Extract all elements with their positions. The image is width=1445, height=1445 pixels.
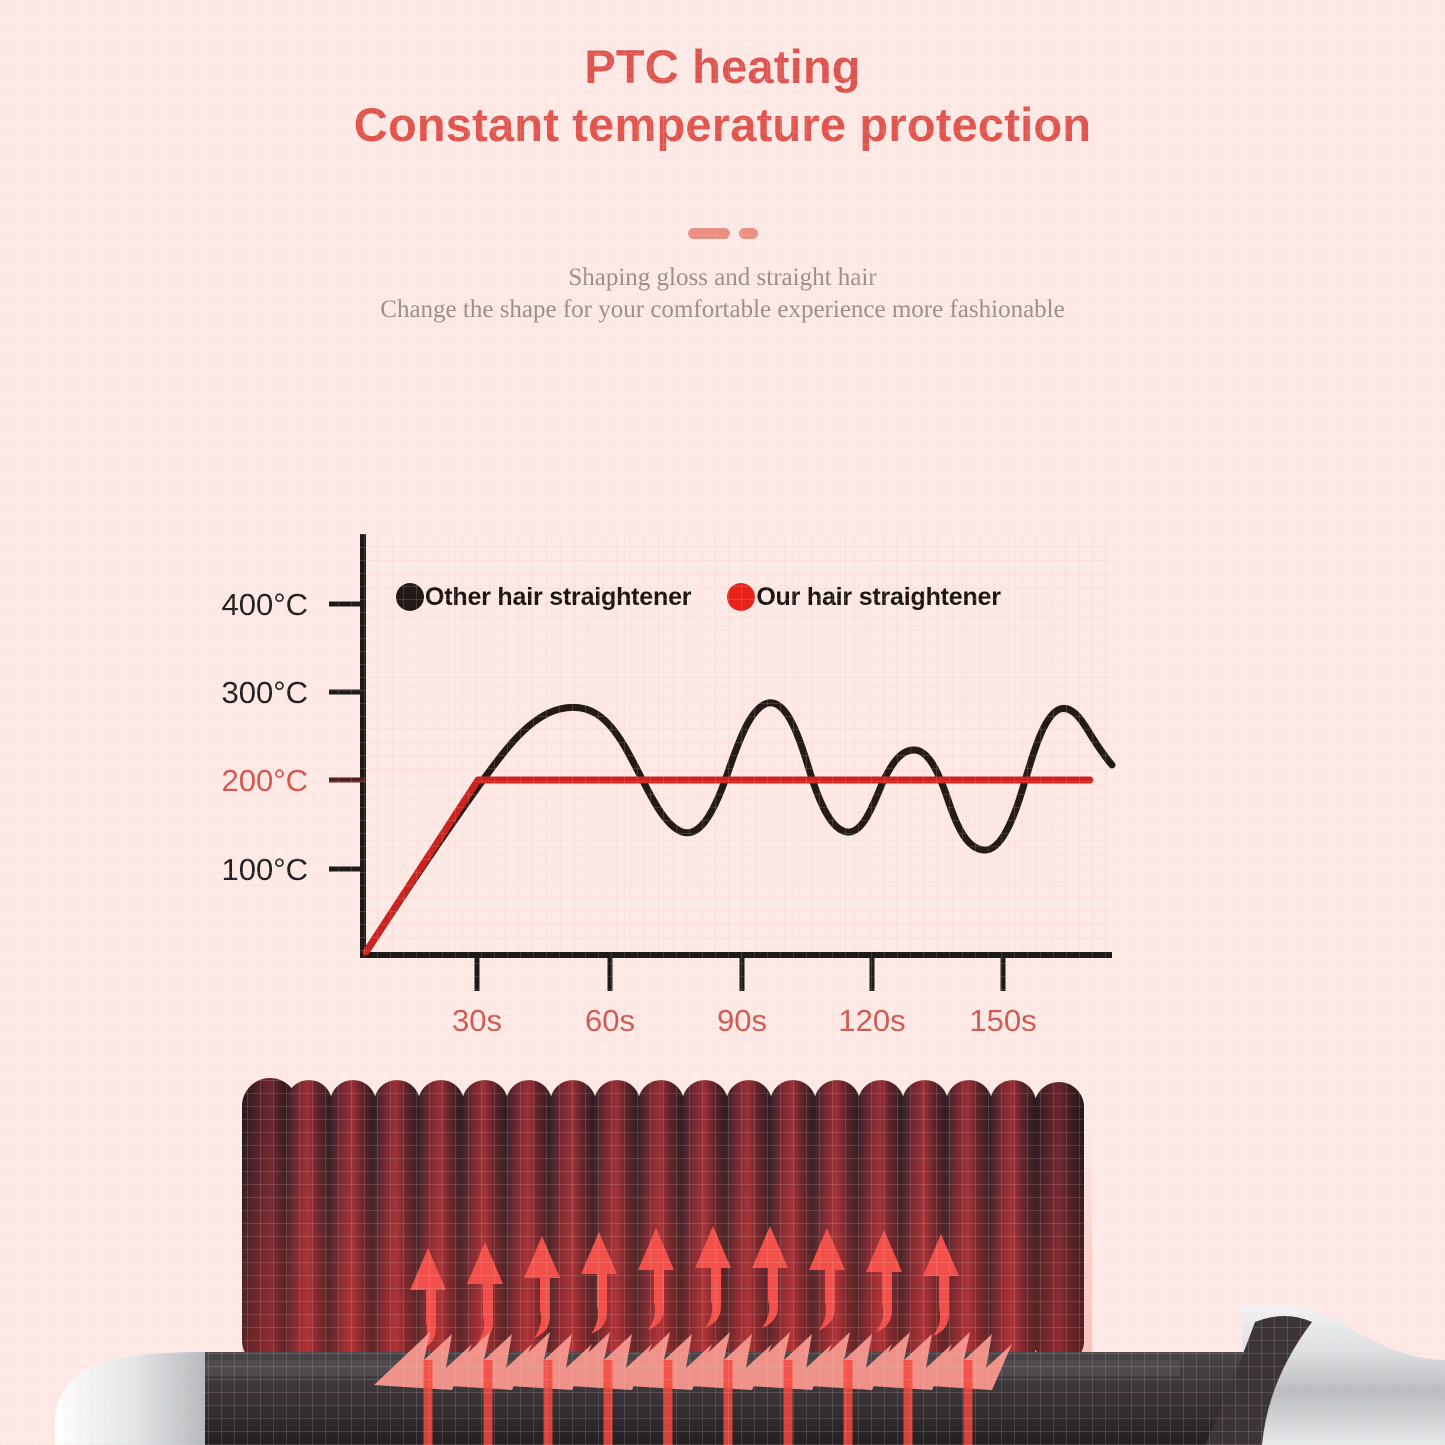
y-axis-label-300: 300°C	[188, 677, 308, 708]
x-axis-label-30s: 30s	[422, 1005, 532, 1036]
legend-item-ours: Our hair straightener	[727, 583, 1000, 611]
legend-item-other: Other hair straightener	[396, 583, 691, 611]
product-illustration	[0, 1060, 1445, 1445]
y-axis-label-400: 400°C	[188, 589, 308, 620]
x-axis-label-90s: 90s	[687, 1005, 797, 1036]
temperature-chart: 400°C 300°C 200°C 100°C 30s 60s 90s 120s…	[0, 0, 1445, 1060]
legend-label-other: Other hair straightener	[425, 585, 691, 610]
y-axis-label-200: 200°C	[188, 765, 308, 796]
heat-glow	[242, 1120, 1092, 1370]
left-cap	[55, 1352, 205, 1445]
chart-legend: Other hair straightener Our hair straigh…	[396, 583, 1001, 611]
legend-label-ours: Our hair straightener	[756, 585, 1000, 610]
legend-dot-black-icon	[396, 583, 424, 611]
chart-canvas	[0, 0, 1445, 1060]
x-axis-label-150s: 150s	[948, 1005, 1058, 1036]
product-image	[0, 1060, 1445, 1445]
promo-page: PTC heating Constant temperature protect…	[0, 0, 1445, 1445]
legend-dot-red-icon	[727, 583, 755, 611]
x-axis-label-60s: 60s	[555, 1005, 665, 1036]
y-axis-label-100: 100°C	[188, 854, 308, 885]
x-axis-label-120s: 120s	[817, 1005, 927, 1036]
